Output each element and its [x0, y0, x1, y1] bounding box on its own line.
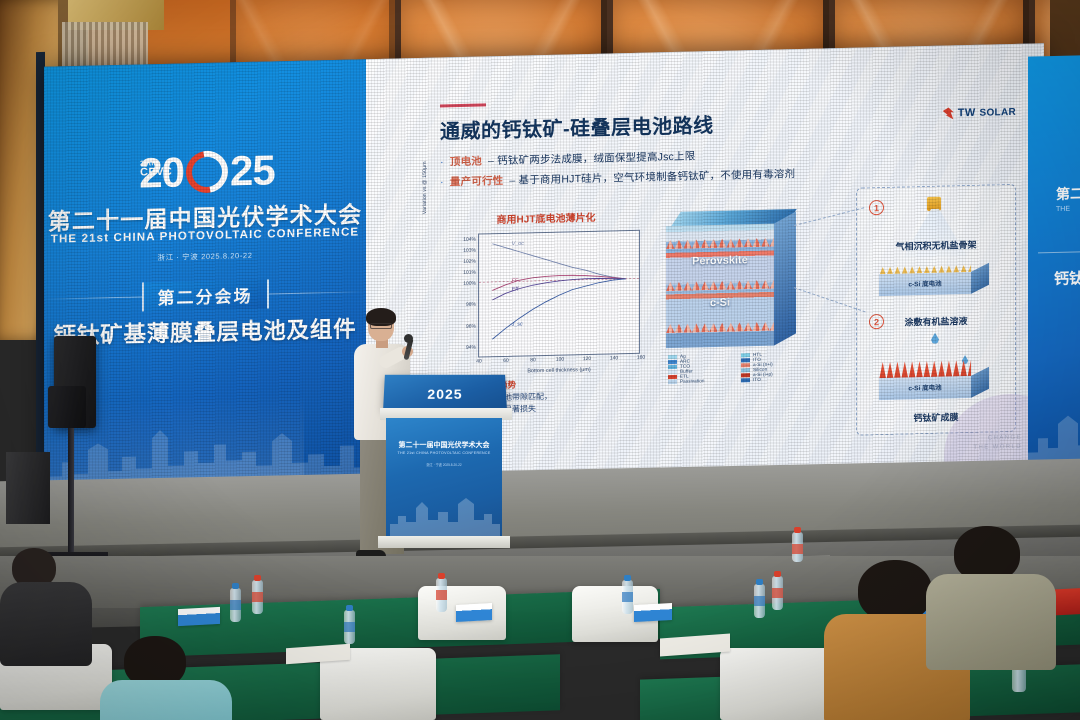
perovskite-layer-label: Perovskite — [666, 254, 774, 269]
water-bottle-4 — [622, 580, 633, 614]
podium-top-panel: 2025 — [383, 375, 507, 410]
bullet-key-1: 顶电池 — [450, 153, 482, 169]
side-screen-title-cn: 第二 — [1056, 183, 1080, 204]
wafer-step-1: c-Si 底电池 — [879, 261, 991, 298]
cpvc-ring-label: 21th CPVC — [140, 160, 172, 180]
podium-panel-date: 浙江 · 宁波 2025.8.20-22 — [386, 462, 502, 467]
podium-panel-title-cn: 第二十一届中国光伏学术大会 — [386, 440, 502, 450]
screen-branding-panel: 20 25 21th CPVC 第二十一届中国光伏学术大会 THE 21st C… — [44, 59, 366, 497]
chart-y-tick: 100% — [463, 280, 476, 286]
conference-date-location: 浙江 · 宁波 2025.8.20-22 — [44, 247, 366, 266]
podium-logo-text: 2025 — [427, 386, 462, 402]
conference-year-logo: 20 25 21th CPVC — [102, 146, 312, 197]
chart-y-tick: 98% — [466, 302, 476, 308]
table-name-card-3 — [634, 603, 672, 622]
legend-label: ITO — [753, 377, 761, 382]
side-screen-topic: 钙钛 — [1054, 267, 1080, 289]
bullet-key-2: 量产可行性 — [450, 173, 504, 189]
led-stage-screen: 20 25 21th CPVC 第二十一届中国光伏学术大会 THE 21st C… — [44, 43, 1044, 497]
chart-series-label-FF: FF — [512, 278, 519, 284]
audience-person-3 — [920, 526, 1056, 666]
water-bottle-8 — [344, 610, 355, 644]
tw-solar-logo: TW SOLAR — [943, 106, 1016, 120]
table-name-card-2 — [456, 603, 492, 622]
chart-x-tick: 100 — [556, 357, 564, 363]
conference-photo: 20 25 21th CPVC 第二十一届中国光伏学术大会 THE 21st C… — [0, 0, 1080, 720]
legend-item: ITO — [741, 376, 808, 383]
equipment-rack — [6, 452, 50, 524]
table-name-card-1 — [178, 607, 220, 626]
side-screen-title-en: THE — [1056, 206, 1070, 213]
audience-person-4 — [0, 548, 90, 658]
session-tag: 第二分会场 — [142, 279, 269, 311]
chart-series-label-Jsc: J_sc — [511, 321, 523, 327]
legend-item: Passivation — [668, 377, 735, 384]
podium-logo: 2025 — [384, 386, 507, 402]
chart-series-label-Eff: Eff — [512, 287, 519, 293]
legend-swatch — [741, 378, 750, 382]
solution-droplet-icon-1 — [931, 333, 939, 344]
chart-series-label-Voc: V_oc — [512, 241, 525, 247]
chart-y-tick: 94% — [466, 345, 476, 351]
glasses-icon — [370, 323, 392, 329]
flame-icon — [943, 107, 954, 119]
slide-watermark: CHANGE THE WORLD — [973, 434, 1022, 453]
chart-y-tick: 103% — [463, 248, 476, 254]
bullet-body-2: – 基于商用HJT硅片，空气环境制备钙钛矿，不使用有毒溶剂 — [509, 166, 795, 188]
bullet-body-1: – 钙钛矿两步法成膜，绒面保型提高Jsc上限 — [488, 148, 695, 168]
chart-y-tick: 96% — [466, 323, 476, 329]
speaker-stand-pole — [68, 428, 74, 556]
cpvc-acronym: CPVC — [140, 166, 172, 179]
water-bottle-6 — [754, 584, 765, 618]
slide-title: 通威的钙钛矿-硅叠层电池路线 — [440, 109, 714, 144]
podium-base — [378, 536, 510, 548]
chart-x-tick: 80 — [530, 357, 536, 363]
water-bottle-10 — [792, 532, 803, 562]
pa-speaker-cabinet-lower — [48, 386, 86, 428]
chart-x-tick: 40 — [476, 358, 482, 364]
logo-year-suffix: 25 — [230, 149, 275, 192]
slide-bullet-2: · 量产可行性 – 基于商用HJT硅片，空气环境制备钙钛矿，不使用有毒溶剂 — [440, 166, 795, 189]
chart-x-tick: 60 — [503, 358, 509, 364]
step-caption-1: 气相沉积无机盐骨架 — [857, 237, 1015, 254]
slide-bullet-1: · 顶电池 – 钙钛矿两步法成膜，绒面保型提高Jsc上限 — [440, 148, 695, 169]
podium-panel-title-en: THE 21st CHINA PHOTOVOLTAIC CONFERENCE — [386, 451, 502, 455]
audience-person-1 — [92, 636, 232, 720]
led-side-screen: 第二 THE 钙钛 — [1028, 55, 1080, 480]
slide-title-accent-bar — [440, 103, 486, 107]
tandem-cell-diagram: Perovskite c-Si AgHTLARCITOTCOa-Si (n+i)… — [666, 209, 816, 403]
chart-x-tick: 160 — [637, 355, 645, 361]
chart-y-axis-label: Variation vs @ 150μm — [422, 133, 428, 243]
step-caption-2: 涂敷有机盐溶液 — [857, 313, 1015, 330]
podium-front-panel: 第二十一届中国光伏学术大会 THE 21st CHINA PHOTOVOLTAI… — [386, 418, 502, 538]
legend-swatch — [668, 379, 677, 383]
step-number-1: 1 — [869, 200, 884, 215]
cell-layer-legend: AgHTLARCITOTCOa-Si (n+i)BufferSiliconETL… — [668, 351, 808, 384]
session-tag-wrap: 第二分会场 — [44, 277, 366, 314]
chart-series-svg: V_ocFFEffJ_sc — [479, 231, 639, 357]
watermark-line-2: THE WORLD — [973, 443, 1022, 453]
water-bottle-1 — [252, 580, 263, 614]
water-bottle-3 — [436, 578, 447, 612]
chart-y-tick: 104% — [463, 237, 476, 243]
chart-plot-area: V_ocFFEffJ_sc 94%96%98%100%101%102%103%1… — [478, 230, 640, 358]
chart-y-tick: 102% — [463, 259, 476, 265]
microphone-head — [404, 334, 413, 343]
water-bottle-2 — [230, 588, 241, 622]
chart-y-tick: 101% — [463, 269, 476, 275]
chart-title: 商用HJT底电池薄片化 — [446, 208, 646, 228]
side-screen-divider — [1038, 251, 1080, 253]
csi-layer-label: c-Si — [666, 296, 774, 311]
cpvc-ring-icon — [186, 150, 228, 193]
tw-solar-word-2: SOLAR — [980, 106, 1017, 118]
cell-side-face — [774, 211, 796, 345]
chart-x-tick: 120 — [583, 356, 591, 362]
thinning-chart: 商用HJT底电池薄片化 Variation vs @ 150μm V_ocFFE… — [438, 208, 648, 403]
legend-label: Passivation — [680, 378, 705, 384]
solution-droplet-icon-2 — [962, 355, 968, 364]
chart-x-tick: 140 — [610, 355, 618, 361]
bullet-marker-2: · — [440, 176, 444, 188]
bullet-marker-1: · — [440, 156, 444, 168]
wafer-step-2: c-Si 底电池 — [879, 365, 991, 402]
cell-front-face: Perovskite c-Si — [666, 224, 774, 349]
water-bottle-5 — [772, 576, 783, 610]
podium-skyline-graphic — [390, 490, 500, 538]
tw-solar-word-1: TW — [958, 107, 976, 119]
